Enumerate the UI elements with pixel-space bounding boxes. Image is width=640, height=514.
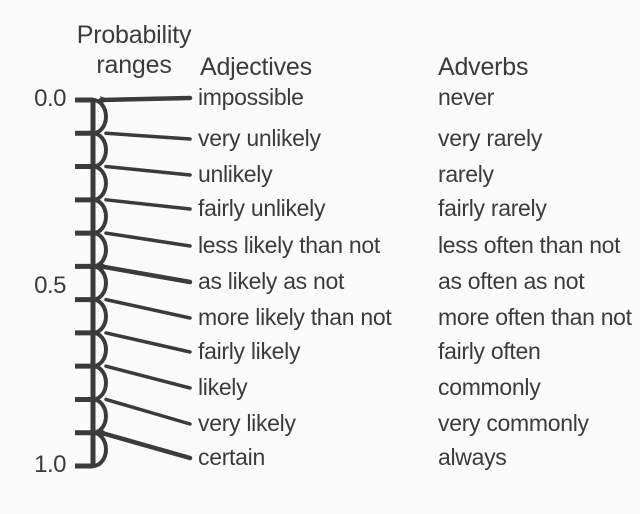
adjective-label: less likely than not bbox=[198, 234, 380, 257]
adverb-label: fairly rarely bbox=[438, 197, 547, 220]
leader-line-arrow bbox=[101, 266, 190, 282]
adverb-label: never bbox=[438, 86, 494, 109]
adjective-label: very likely bbox=[198, 412, 296, 435]
leader-line bbox=[106, 366, 190, 388]
probability-ranges-figure: Probability ranges Adjectives Adverbs 0.… bbox=[0, 0, 640, 514]
leader-line bbox=[106, 333, 190, 352]
leader-line-arrow bbox=[101, 433, 190, 458]
leader-line bbox=[106, 300, 190, 318]
adjective-label: certain bbox=[198, 446, 265, 469]
leader-line-group bbox=[101, 98, 190, 458]
axis-value-label: 0.5 bbox=[8, 274, 66, 298]
leader-line bbox=[106, 233, 190, 246]
adverb-label: more often than not bbox=[438, 306, 632, 329]
leader-line bbox=[106, 167, 190, 175]
adjective-label: unlikely bbox=[198, 163, 272, 186]
axis-value-label: 0.0 bbox=[8, 87, 66, 111]
axis-value-label: 1.0 bbox=[8, 453, 66, 477]
adverb-label: always bbox=[438, 446, 507, 469]
adjective-label: fairly likely bbox=[198, 340, 300, 363]
leader-line bbox=[106, 399, 190, 424]
adjective-label: impossible bbox=[198, 86, 304, 109]
adverb-label: commonly bbox=[438, 376, 540, 399]
adjective-label: likely bbox=[198, 376, 247, 399]
adverb-label: very rarely bbox=[438, 127, 542, 150]
adverb-label: rarely bbox=[438, 163, 494, 186]
leader-line bbox=[106, 133, 190, 139]
adverb-label: less often than not bbox=[438, 234, 620, 257]
adverb-label: very commonly bbox=[438, 412, 589, 435]
adverb-label: fairly often bbox=[438, 340, 541, 363]
adverb-label: as often as not bbox=[438, 270, 584, 293]
leader-line-arrow bbox=[101, 98, 190, 100]
leader-line bbox=[106, 200, 190, 209]
adjective-label: as likely as not bbox=[198, 270, 344, 293]
adjective-label: fairly unlikely bbox=[198, 197, 325, 220]
axis-tick-group bbox=[75, 100, 106, 466]
adjective-label: very unlikely bbox=[198, 127, 321, 150]
adjective-label: more likely than not bbox=[198, 306, 391, 329]
